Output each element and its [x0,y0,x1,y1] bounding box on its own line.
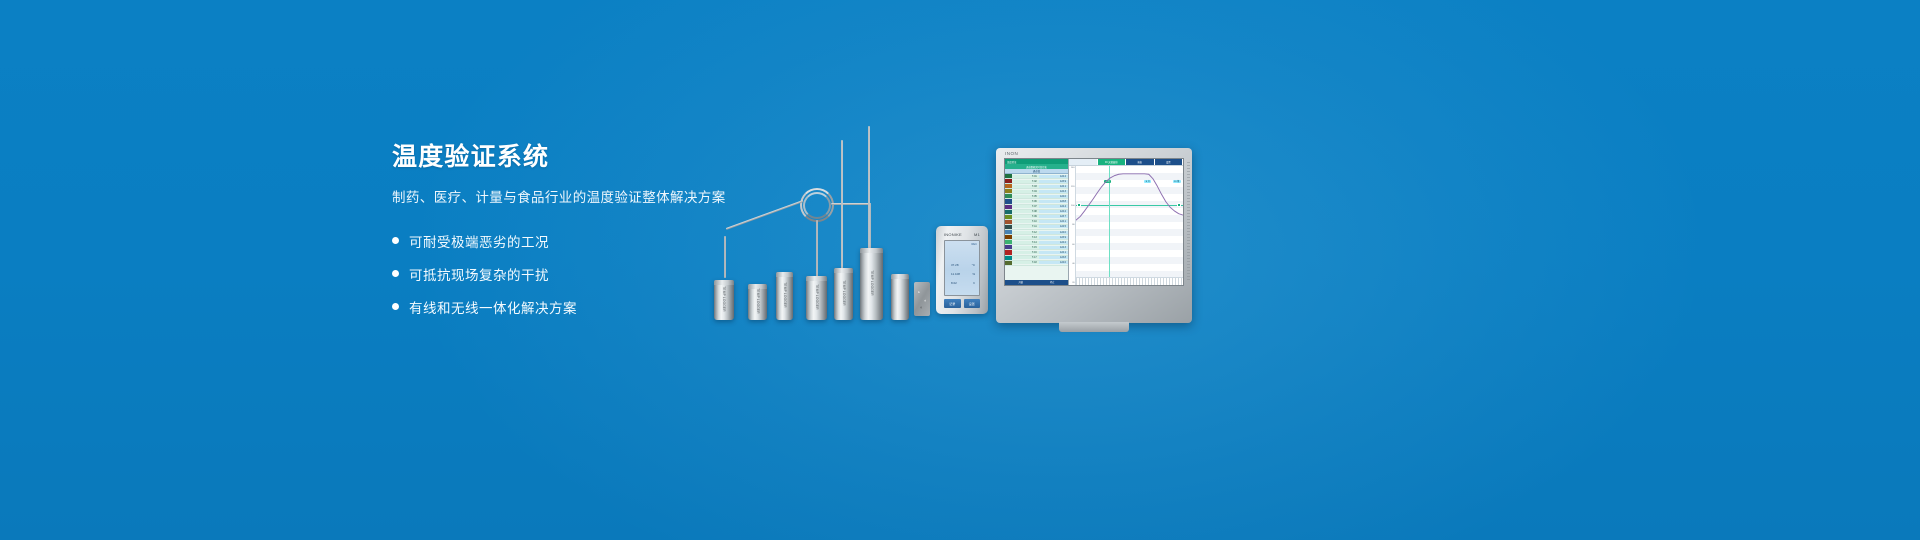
channel-value-cell: 123.8 [1039,200,1068,203]
channel-id-cell: T-07 [1012,205,1039,208]
channel-id-cell: T-05 [1012,195,1039,198]
data-logger: TEMP LOGGER [776,272,793,320]
channel-color-swatch [1005,174,1012,178]
channel-color-swatch [1005,215,1012,219]
data-logger: TEMP LOGGER [834,268,853,320]
vent-grille [1187,162,1190,282]
probe-stem [816,220,818,280]
channel-id-cell: T-03 [1012,185,1039,188]
channel-color-swatch [1005,250,1012,254]
channel-value-cell: 124.0 [1039,195,1068,198]
channel-color-swatch [1005,230,1012,234]
channel-color-swatch [1005,235,1012,239]
chart-y-axis: 14012010080604020 [1069,166,1076,286]
logger-label: TEMP LOGGER [842,280,846,306]
channel-value-cell: 124.0 [1039,261,1068,264]
table-row[interactable]: T-18124.0 [1005,261,1068,266]
channel-color-swatch [1005,261,1012,265]
channel-id-cell: T-01 [1012,175,1039,178]
channel-color-swatch [1005,205,1012,209]
coiled-probe-cable [803,192,831,219]
channel-value-cell: 124.1 [1039,251,1068,254]
channel-value-cell: 124.3 [1039,190,1068,193]
channel-id-cell: T-12 [1012,231,1039,234]
bullet-dot-icon [392,303,399,310]
channel-table: 温度验证 通道数据实时监控表 通道值 T-01124.2T-02123.9T-0… [1005,159,1069,285]
logger-label: TEMP LOGGER [756,289,760,315]
feature-label: 可抵抗现场复杂的干扰 [409,264,549,284]
channel-value-cell: 124.2 [1039,175,1068,178]
reader-brand-row: INONIKE M1 [940,230,984,237]
probe-cable [726,200,804,230]
channel-value-cell: 124.5 [1039,225,1068,228]
chart-plot-area[interactable]: 14012010080604020 A 点 B 点 F0 值 [1069,165,1183,286]
channel-value-cell: 124.0 [1039,231,1068,234]
logger-label: TEMP LOGGER [815,284,819,310]
temperature-curve [1076,166,1183,230]
data-logger [891,274,909,320]
channel-value-cell: 124.1 [1039,185,1068,188]
monitor-brand-label: INON [1005,151,1018,156]
reader-status-badge: REC [972,243,977,246]
axis-tick-label: 40 [1069,263,1075,265]
channel-id-cell: T-15 [1012,246,1039,249]
reader-record-button[interactable]: 记录 [944,299,961,308]
logger-label: TEMP LOGGER [722,286,726,312]
axis-tick-label: 120 [1069,186,1075,188]
feature-label: 可耐受极端恶劣的工况 [409,231,549,251]
channel-color-swatch [1005,179,1012,183]
data-logger: TEMP LOGGER [806,276,827,320]
chart-x-axis [1076,277,1183,285]
insulation-block [914,282,930,316]
channel-color-swatch [1005,225,1012,229]
sterilization-chart: F0 灭菌曲线 报表 设置 14012010080604020 A 点 B 点 … [1069,159,1183,285]
data-logger: TEMP LOGGER [714,280,734,320]
channel-value-cell: 124.4 [1039,205,1068,208]
feature-label: 有线和无线一体化解决方案 [409,297,577,317]
channel-value-cell: 123.9 [1039,180,1068,183]
stop-button[interactable]: 停止 [1037,280,1069,286]
channel-value-cell: 124.2 [1039,210,1068,213]
readout-label: 37.28 [951,263,959,267]
reader-model-label: M1 [974,232,980,237]
channel-id-cell: T-10 [1012,220,1039,223]
channel-color-swatch [1005,256,1012,260]
axis-tick-label: 20 [1069,282,1075,284]
monitor-screen: 温度验证 通道数据实时监控表 通道值 T-01124.2T-02123.9T-0… [1004,158,1184,286]
logger-label: TEMP LOGGER [870,270,874,296]
validation-monitor: INON 温度验证 通道数据实时监控表 通道值 T-01124.2T-02123… [996,148,1192,323]
readout-unit: °C [972,263,975,267]
channel-id-cell: T-18 [1012,261,1039,264]
probe-stem [724,236,726,278]
channel-color-swatch [1005,184,1012,188]
channel-value-cell: 124.3 [1039,246,1068,249]
channel-color-swatch [1005,220,1012,224]
channel-id-cell: T-06 [1012,200,1039,203]
probe-cable [831,203,871,205]
channel-value-cell: 123.8 [1039,256,1068,259]
channel-value-cell: 124.2 [1039,241,1068,244]
table-footer: 开始 停止 [1005,280,1068,286]
readout-unit: % [972,272,975,276]
hero-banner: 温度验证系统 制药、医疗、计量与食品行业的温度验证整体解决方案 可耐受极端恶劣的… [0,0,1920,540]
channel-color-swatch [1005,240,1012,244]
reader-brand-label: INONIKE [944,232,962,237]
channel-color-swatch [1005,189,1012,193]
reader-readout-list: 37.28 °C 11.108 % 8.02 h [951,263,975,290]
needle-probe [841,140,843,280]
channel-color-swatch [1005,194,1012,198]
channel-id-cell: T-13 [1012,236,1039,239]
data-logger: TEMP LOGGER [860,248,883,320]
readout-unit: h [973,281,975,285]
channel-id-cell: T-14 [1012,241,1039,244]
channel-id-cell: T-17 [1012,256,1039,259]
channel-id-cell: T-16 [1012,251,1039,254]
product-montage: TEMP LOGGER TEMP LOGGER TEMP LOGGER TEMP… [700,120,1220,320]
list-item: 37.28 °C [951,263,975,267]
list-item: 11.108 % [951,272,975,276]
channel-id-cell: T-11 [1012,225,1039,228]
readout-label: 8.02 [951,281,957,285]
channel-color-swatch [1005,199,1012,203]
reader-button-row: 记录 设置 [944,299,980,308]
panel-title: 温度验证 [1007,160,1017,164]
axis-tick-label: 60 [1069,244,1075,246]
channel-color-swatch [1005,210,1012,214]
channel-id-cell: T-08 [1012,210,1039,213]
axis-tick-label: 100 [1069,205,1075,207]
channel-value-cell: 123.9 [1039,236,1068,239]
list-item: 8.02 h [951,281,975,285]
reader-settings-button[interactable]: 设置 [964,299,981,308]
reader-screen: REC 37.28 °C 11.108 % 8.02 h [944,240,980,296]
bullet-dot-icon [392,270,399,277]
bullet-dot-icon [392,237,399,244]
axis-tick-label: 140 [1069,167,1075,169]
data-logger: TEMP LOGGER [748,284,767,320]
channel-value-cell: 123.7 [1039,215,1068,218]
logger-label: TEMP LOGGER [783,282,787,308]
channel-value-cell: 124.1 [1039,220,1068,223]
table-body[interactable]: T-01124.2T-02123.9T-03124.1T-04124.3T-05… [1005,174,1068,280]
start-button[interactable]: 开始 [1005,280,1037,286]
channel-id-cell: T-09 [1012,215,1039,218]
axis-tick-label: 80 [1069,224,1075,226]
readout-label: 11.108 [951,272,960,276]
channel-id-cell: T-02 [1012,180,1039,183]
channel-id-cell: T-04 [1012,190,1039,193]
handheld-reader[interactable]: INONIKE M1 REC 37.28 °C 11.108 % 8.02 [936,226,988,314]
monitor-stand [1059,322,1129,332]
channel-color-swatch [1005,245,1012,249]
